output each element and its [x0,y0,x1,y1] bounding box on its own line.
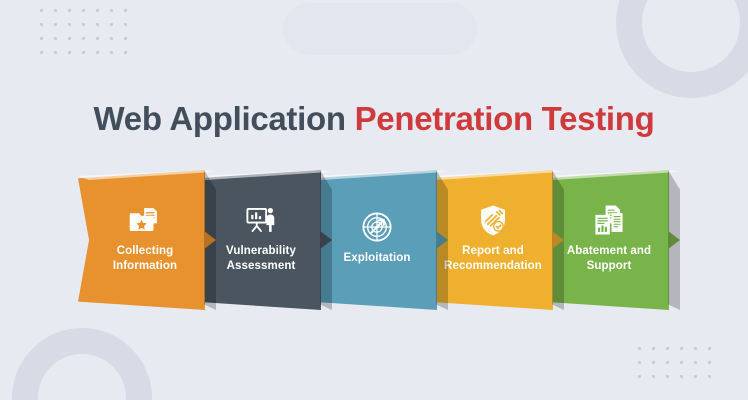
presentation-person-icon [244,203,278,237]
flow-step-label: Report and Recommendation [444,244,542,273]
process-flow: Collecting Information Vulnerability Ass… [78,170,668,310]
flow-step-collecting-information[interactable]: Collecting Information [78,170,216,310]
documents-report-icon [592,203,626,237]
background-pill-shape [283,3,477,55]
radar-target-icon [360,210,394,244]
folder-star-icon [128,203,162,237]
background-dot-grid-bottom-right [638,347,711,378]
background-dot-grid-top-left [40,9,127,54]
background-ring-top-right [616,0,748,98]
page-title-primary: Web Application [94,100,355,137]
page-title: Web Application Penetration Testing [0,100,748,138]
flow-step-label: Abatement and Support [567,244,651,273]
background-ring-bottom-left [12,328,152,400]
shield-check-icon [476,203,510,237]
page-title-accent: Penetration Testing [355,100,655,137]
flow-step-label: Exploitation [343,251,410,266]
flow-step-label: Vulnerability Assessment [226,244,296,273]
flow-step-label: Collecting Information [113,244,177,273]
